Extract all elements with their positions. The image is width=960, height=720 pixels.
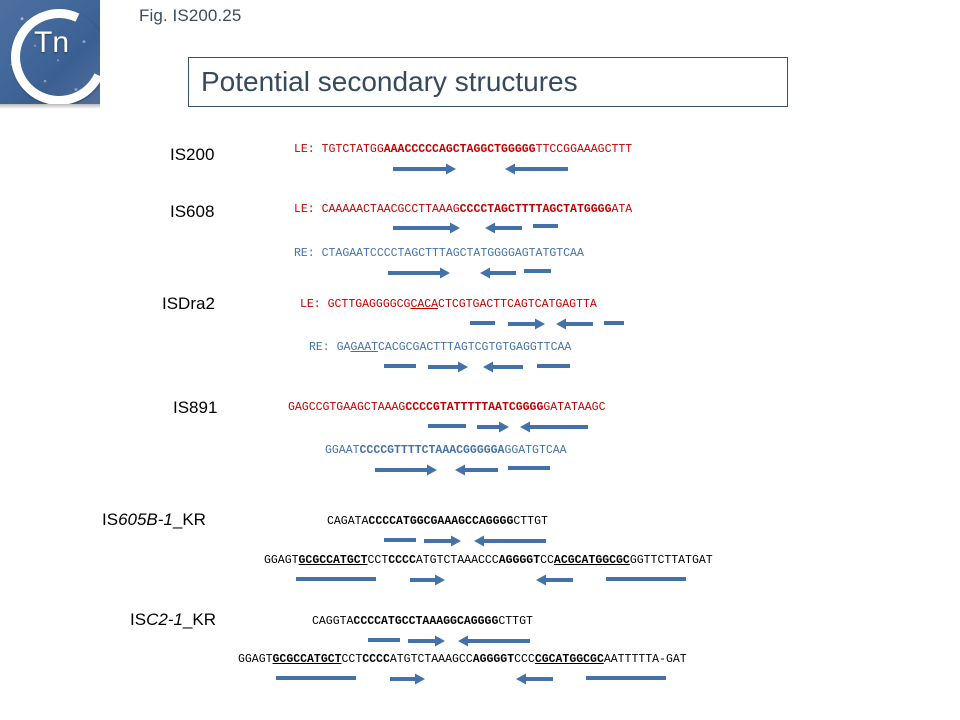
sequence-segment: ATGTCTAAACCC [416, 554, 499, 567]
bold-segment: GCGCCATGCT [273, 653, 342, 666]
left-arrow-icon [505, 163, 568, 175]
right-arrow-icon [393, 222, 460, 234]
right-arrow-icon [410, 574, 445, 586]
right-arrow-icon [393, 163, 456, 175]
bar-icon [296, 573, 376, 585]
left-arrow-icon [520, 421, 588, 433]
sequence-segment: TTCCGGAAAGCTTT [536, 143, 633, 156]
sequence-line: GGAGTGCGCCATGCTCCTCCCCATGTCTAAAGCCAGGGGT… [238, 653, 687, 666]
sequence-segment: ATA [611, 203, 632, 216]
sequence-segment: CCT [368, 554, 389, 567]
right-arrow-icon [375, 464, 437, 476]
bold-segment: CCCCATGGCGAAAGCCAGGGG [368, 515, 513, 528]
sequence-segment: CTAGAATCCCCTAGCTTTAGCTATGGGGAGTATGTCAA [322, 247, 584, 260]
bold-segment: AAACCCCCAGCTAGGCTGGGGG [384, 143, 536, 156]
right-arrow-icon [424, 535, 461, 547]
sequence-segment: GAGCCGTGAAGCTAAAG [288, 401, 405, 414]
sequence-line: GGAATCCCCGTTTTCTAAACGGGGGAGGATGTCAA [325, 444, 567, 457]
left-arrow-icon [556, 318, 593, 330]
sequence-segment: GGAAT [325, 444, 360, 457]
bar-icon [470, 317, 495, 329]
sequence-segment: CCCCGTTTTCTAAACGGGGGA [360, 444, 505, 457]
sequence-segment: CTCGTGACTTCAGTCATGAGTTA [438, 298, 597, 311]
logo-tn-text: Tn [34, 28, 69, 58]
logo-shadow [0, 104, 100, 109]
bold-segment: CCCCTAGCTTTTAGCTATGGGG [460, 203, 612, 216]
underlined-segment: GAAT [350, 341, 378, 354]
left-arrow-icon [536, 574, 573, 586]
sequence-line: RE: GAGAATCACGCGACTTTAGTCGTGTGAGGTTCAA [309, 341, 571, 354]
left-arrow-icon [455, 464, 498, 476]
sequence-segment: ACGCATGGCGC [554, 554, 630, 567]
bold-segment: CGCATGGCGC [535, 653, 604, 666]
sequence-prefix: LE: [294, 203, 322, 216]
sequence-segment: CACGCGACTTTAGTCGTGTGA [378, 341, 523, 354]
bar-icon [368, 634, 400, 646]
sequence-line: GGAGTGCGCCATGCTCCTCCCCATGTCTAAACCCAGGGGT… [264, 554, 713, 567]
underlined-segment: ACGCATGGCGC [554, 554, 630, 567]
bold-segment: CCCCATGCCTAAAGGCAGGGG [353, 615, 498, 628]
bar-icon [508, 462, 550, 474]
bar-icon [276, 672, 356, 684]
sequence-line: LE: CAAAAACTAACGCCTTAAAGCCCCTAGCTTTTAGCT… [294, 203, 632, 216]
underlined-segment: CACA [410, 298, 438, 311]
sequence-segment: GAAT [350, 341, 378, 354]
sequence-segment: AAACCCCCAGCTAGGCTGGGGG [384, 143, 536, 156]
bar-icon [533, 220, 558, 232]
sequence-segment: CCCCTAGCTTTTAGCTATGGGG [460, 203, 612, 216]
sequence-prefix: RE: [294, 247, 322, 260]
left-arrow-icon [480, 267, 516, 279]
sequence-segment: GATATAAGC [543, 401, 605, 414]
sequence-prefix: LE: [300, 298, 328, 311]
sequence-segment: CCCCATGCCTAAAGGCAGGGG [353, 615, 498, 628]
ctn-logo: Tn [0, 0, 100, 104]
left-arrow-icon [474, 535, 546, 547]
sequence-segment: GCGCCATGCT [273, 653, 342, 666]
underlined-segment: GCGCCATGCT [273, 653, 342, 666]
right-arrow-icon [388, 267, 450, 279]
underlined-segment: GCGCCATGCT [299, 554, 368, 567]
sequence-segment: GGTTCTTATGAT [630, 554, 713, 567]
right-arrow-icon [428, 361, 468, 373]
bar-icon [428, 420, 466, 432]
sequence-segment: CCCC [388, 554, 416, 567]
sequence-segment: AGGGGT [473, 653, 514, 666]
sequence-segment: GCTTGAGGGGCG [328, 298, 411, 311]
sequence-line: CAGGTACCCCATGCCTAAAGGCAGGGGCTTGT [312, 615, 533, 628]
bold-segment: CCCCGTATTTTTAATCGGGG [405, 401, 543, 414]
right-arrow-icon [408, 635, 445, 647]
sequence-segment: ATGTCTAAAGCC [390, 653, 473, 666]
left-arrow-icon [458, 635, 530, 647]
row-label-is608: IS608 [170, 202, 214, 222]
sequence-segment: CCCC [362, 653, 390, 666]
bold-segment: CCCC [362, 653, 390, 666]
row-label-is891: IS891 [173, 398, 217, 418]
slide-title-box: Potential secondary structures [188, 57, 788, 107]
underlined-segment: CGCATGGCGC [535, 653, 604, 666]
sequence-segment: TGTCTATGG [322, 143, 384, 156]
row-label-isdra2: ISDra2 [162, 294, 215, 314]
sequence-segment: CGCATGGCGC [535, 653, 604, 666]
sequence-segment: CCT [342, 653, 363, 666]
bold-segment: ACGCATGGCGC [554, 554, 630, 567]
bold-segment: AGGGGT [473, 653, 514, 666]
sequence-segment: AATTTTTA-GAT [604, 653, 687, 666]
bold-segment: CCCCGTTTTCTAAACGGGGGA [360, 444, 505, 457]
right-arrow-icon [508, 318, 545, 330]
bar-icon [384, 360, 416, 372]
sequence-segment: GA [337, 341, 351, 354]
sequence-segment: CACA [410, 298, 438, 311]
left-arrow-icon [483, 361, 523, 373]
bar-icon [537, 360, 570, 372]
sequence-segment: CAAAAACTAACGCCTTAAAG [322, 203, 460, 216]
left-arrow-icon [485, 222, 522, 234]
sequence-segment: CCC [514, 653, 535, 666]
sequence-prefix: RE: [309, 341, 337, 354]
row-label-is605b-1-kr: IS605B-1_KR [102, 510, 206, 530]
sequence-line: LE: TGTCTATGGAAACCCCCAGCTAGGCTGGGGGTTCCG… [294, 143, 632, 156]
sequence-segment: CCCCATGGCGAAAGCCAGGGG [368, 515, 513, 528]
bold-segment: GCGCCATGCT [299, 554, 368, 567]
sequence-segment: CAGATA [327, 515, 368, 528]
row-label-isc2-1-kr: ISC2-1_KR [130, 610, 216, 630]
right-arrow-icon [390, 673, 425, 685]
sequence-line: GAGCCGTGAAGCTAAAGCCCCGTATTTTTAATCGGGGGAT… [288, 401, 605, 414]
sequence-segment: CTTGT [498, 615, 533, 628]
bar-icon [604, 317, 624, 329]
sequence-line: CAGATACCCCATGGCGAAAGCCAGGGGCTTGT [327, 515, 548, 528]
left-arrow-icon [516, 673, 553, 685]
right-arrow-icon [477, 421, 509, 433]
sequence-segment: GGAGT [238, 653, 273, 666]
bar-icon [384, 534, 416, 546]
sequence-segment: CC [540, 554, 554, 567]
page-title: Potential secondary structures [189, 66, 578, 98]
bold-segment: CCCC [388, 554, 416, 567]
bar-icon [586, 672, 666, 684]
sequence-prefix: LE: [294, 143, 322, 156]
sequence-segment: GGTTCAA [523, 341, 571, 354]
sequence-segment: GGATGTCAA [504, 444, 566, 457]
figure-label: Fig. IS200.25 [139, 6, 241, 26]
sequence-line: RE: CTAGAATCCCCTAGCTTTAGCTATGGGGAGTATGTC… [294, 247, 584, 260]
sequence-segment: AGGGGT [499, 554, 540, 567]
sequence-segment: GGAGT [264, 554, 299, 567]
sequence-segment: CAGGTA [312, 615, 353, 628]
row-label-is200: IS200 [170, 145, 214, 165]
bar-icon [524, 265, 551, 277]
bar-icon [606, 573, 686, 585]
sequence-line: LE: GCTTGAGGGGCGCACACTCGTGACTTCAGTCATGAG… [300, 298, 597, 311]
bold-segment: AGGGGT [499, 554, 540, 567]
sequence-segment: CTTGT [513, 515, 548, 528]
sequence-segment: CCCCGTATTTTTAATCGGGG [405, 401, 543, 414]
sequence-segment: GCGCCATGCT [299, 554, 368, 567]
